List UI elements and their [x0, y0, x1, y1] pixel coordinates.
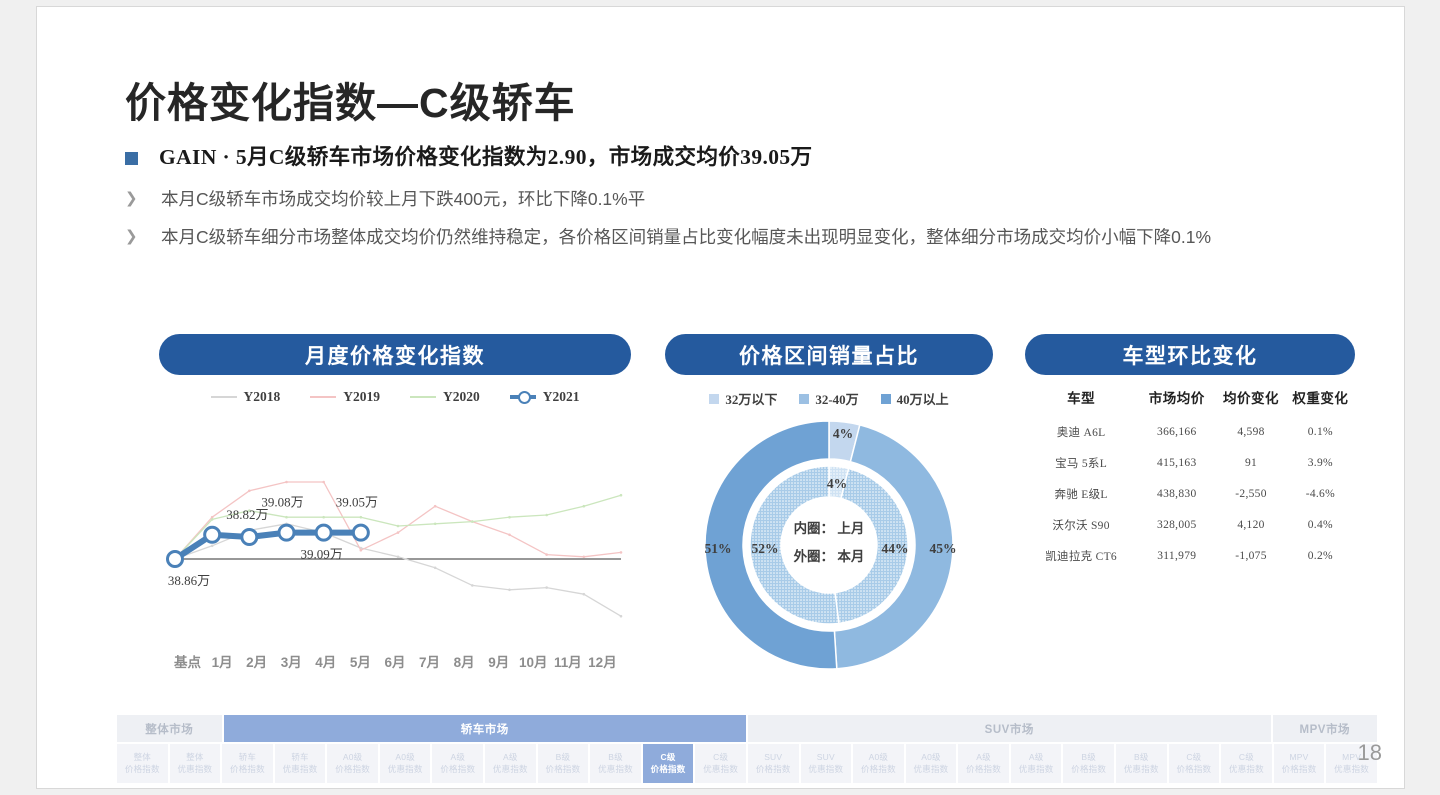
x-tick-label: 12月 [586, 651, 619, 671]
legend-swatch-under32 [709, 394, 719, 404]
x-tick-label: 7月 [413, 651, 446, 671]
cell-weight-change: 0.4% [1286, 509, 1355, 540]
x-tick-label: 6月 [378, 651, 411, 671]
cell-price-change: 4,120 [1216, 509, 1285, 540]
arrow-bullet-icon: ❯ [125, 189, 139, 207]
line-point [508, 534, 511, 537]
nav-group-整体市场[interactable]: 整体市场 [117, 715, 224, 742]
line-point [471, 520, 474, 523]
panel-title-line-chart: 月度价格变化指数 [159, 334, 631, 375]
line-point [397, 531, 400, 534]
nav-tab-line1: A0级 [395, 752, 415, 763]
nav-tab-line2: 价格指数 [230, 764, 265, 775]
nav-tab-line2: 优惠指数 [1124, 764, 1159, 775]
line-marker-y2021 [279, 525, 294, 540]
line-point [620, 615, 623, 618]
bullet-sub-text: 本月C级轿车市场成交均价较上月下跌400元，环比下降0.1%平 [161, 186, 645, 213]
table-row: 宝马 5系L415,163913.9% [1025, 447, 1355, 478]
legend-item-under32: 32万以下 [709, 389, 777, 408]
line-marker-y2021 [242, 530, 257, 545]
nav-tab-line2: 优惠指数 [598, 764, 633, 775]
line-point [322, 516, 325, 519]
nav-tab-line2: 优惠指数 [703, 764, 738, 775]
nav-tab-line1: B级 [556, 752, 571, 763]
nav-tab-21[interactable]: C级优惠指数 [1221, 744, 1274, 783]
nav-group-label: 轿车市场 [461, 721, 509, 737]
x-tick-label: 3月 [275, 651, 308, 671]
table-header-weight-chg: 权重变化 [1286, 379, 1355, 416]
nav-tab-line2: 价格指数 [756, 764, 791, 775]
table-header-model: 车型 [1025, 379, 1137, 416]
page-title: 价格变化指数—C级轿车 [125, 69, 576, 129]
nav-tab-line2: 价格指数 [125, 764, 160, 775]
cell-avg-price: 328,005 [1137, 509, 1216, 540]
donut-center-note-outer: 外圈： 本月 [794, 548, 865, 564]
line-point [434, 567, 437, 570]
legend-label: Y2021 [543, 389, 580, 405]
legend-item-y2020: Y2020 [410, 389, 480, 405]
nav-tab-line1: B级 [608, 752, 623, 763]
table-row: 沃尔沃 S90328,0054,1200.4% [1025, 509, 1355, 540]
nav-tab-11[interactable]: C级优惠指数 [695, 744, 748, 783]
nav-tab-line2: 优惠指数 [1229, 764, 1264, 775]
bullet-sub-2: ❯ 本月C级轿车细分市场整体成交均价仍然维持稳定，各价格区间销量占比变化幅度未出… [125, 224, 1365, 251]
legend-swatch-over40 [881, 394, 891, 404]
line-point [248, 490, 251, 493]
nav-tab-1[interactable]: 整体优惠指数 [170, 744, 223, 783]
donut-slice-label: 45% [930, 541, 957, 556]
nav-tab-13[interactable]: SUV优惠指数 [801, 744, 854, 783]
legend-label: 32-40万 [815, 389, 858, 408]
cell-price-change: -2,550 [1216, 478, 1285, 509]
cell-avg-price: 366,166 [1137, 416, 1216, 447]
x-tick-label: 8月 [448, 651, 481, 671]
nav-tab-7[interactable]: A级优惠指数 [485, 744, 538, 783]
legend-label: 40万以上 [897, 389, 949, 408]
cell-avg-price: 311,979 [1137, 540, 1216, 571]
nav-tab-2[interactable]: 轿车价格指数 [222, 744, 275, 783]
donut-center-note-inner: 内圈： 上月 [794, 520, 865, 536]
line-point [434, 523, 437, 526]
x-tick-label: 9月 [482, 651, 515, 671]
model-change-table: 车型 市场均价 均价变化 权重变化 奥迪 A6L366,1664,5980.1%… [1025, 379, 1355, 571]
cell-model: 奔驰 E级L [1025, 478, 1137, 509]
bullet-list: GAIN · 5月C级轿车市场价格变化指数为2.90，市场成交均价39.05万 … [125, 144, 1365, 262]
nav-tab-line1: SUV [764, 752, 782, 763]
nav-tab-line1: A级 [976, 752, 991, 763]
nav-tab-line2: 优惠指数 [493, 764, 528, 775]
nav-tab-line2: 价格指数 [1282, 764, 1317, 775]
line-point [471, 584, 474, 587]
donut-chart: 32万以下 32-40万 40万以上 [665, 379, 993, 679]
legend-item-y2018: Y2018 [211, 389, 281, 405]
nav-tab-line2: 价格指数 [1176, 764, 1211, 775]
square-bullet-icon [125, 152, 138, 165]
nav-tab-line2: 优惠指数 [388, 764, 423, 775]
line-point [583, 593, 586, 596]
legend-swatch-32to40 [799, 394, 809, 404]
nav-tab-5[interactable]: A0级优惠指数 [380, 744, 433, 783]
nav-tab-9[interactable]: B级优惠指数 [590, 744, 643, 783]
cell-price-change: -1,075 [1216, 540, 1285, 571]
nav-tab-line2: 优惠指数 [177, 764, 212, 775]
line-point [397, 525, 400, 528]
cell-weight-change: 0.2% [1286, 540, 1355, 571]
nav-tab-line2: 价格指数 [651, 764, 686, 775]
cell-weight-change: -4.6% [1286, 478, 1355, 509]
nav-group-label: 整体市场 [145, 721, 193, 737]
line-data-label: 39.08万 [261, 495, 303, 510]
nav-group-MPV市场[interactable]: MPV市场 [1273, 715, 1380, 742]
donut-slice-label: 52% [752, 541, 779, 556]
legend-swatch-y2021 [510, 395, 536, 399]
nav-tab-line1: A级 [503, 752, 518, 763]
line-data-label: 39.09万 [301, 547, 343, 562]
table-row: 奥迪 A6L366,1664,5980.1% [1025, 416, 1355, 447]
nav-tab-line2: 优惠指数 [914, 764, 949, 775]
nav-tab-line2: 价格指数 [1071, 764, 1106, 775]
nav-tab-line1: SUV [817, 752, 835, 763]
bullet-main: GAIN · 5月C级轿车市场价格变化指数为2.90，市场成交均价39.05万 [125, 144, 1365, 172]
nav-tab-line2: 价格指数 [440, 764, 475, 775]
line-point [508, 589, 511, 592]
legend-item-y2019: Y2019 [310, 389, 380, 405]
donut-slice-label: 44% [882, 541, 909, 556]
legend-label: Y2020 [443, 389, 480, 405]
table-header-row: 车型 市场均价 均价变化 权重变化 [1025, 379, 1355, 416]
nav-tab-line2: 优惠指数 [808, 764, 843, 775]
donut-slice-label: 51% [705, 541, 732, 556]
nav-group-label: MPV市场 [1300, 721, 1350, 737]
cell-model: 奥迪 A6L [1025, 416, 1137, 447]
line-chart-x-axis: 基点1月2月3月4月5月6月7月8月9月10月11月12月 [159, 651, 631, 671]
line-point [583, 556, 586, 559]
donut-chart-plot: 4%45%51%4%44%52% 内圈： 上月 外圈： 本月 [665, 416, 993, 674]
nav-tab-0[interactable]: 整体价格指数 [117, 744, 170, 783]
nav-tab-line1: C级 [1239, 752, 1254, 763]
cell-weight-change: 3.9% [1286, 447, 1355, 478]
line-point [545, 514, 548, 517]
table-row: 奔驰 E级L438,830-2,550-4.6% [1025, 478, 1355, 509]
line-point [620, 551, 623, 554]
nav-group-row: 整体市场轿车市场SUV市场MPV市场 [117, 715, 1379, 742]
bullet-main-text: GAIN · 5月C级轿车市场价格变化指数为2.90，市场成交均价39.05万 [159, 144, 812, 172]
nav-tab-6[interactable]: A级价格指数 [432, 744, 485, 783]
cell-price-change: 4,598 [1216, 416, 1285, 447]
nav-tab-line1: 轿车 [239, 752, 256, 763]
bullet-sub-text: 本月C级轿车细分市场整体成交均价仍然维持稳定，各价格区间销量占比变化幅度未出现明… [161, 224, 1211, 251]
cell-avg-price: 415,163 [1137, 447, 1216, 478]
nav-tab-19[interactable]: B级优惠指数 [1116, 744, 1169, 783]
nav-tab-16[interactable]: A级价格指数 [958, 744, 1011, 783]
table-row: 凯迪拉克 CT6311,979-1,0750.2% [1025, 540, 1355, 571]
nav-tab-line1: C级 [661, 752, 676, 763]
x-tick-label: 1月 [206, 651, 239, 671]
line-point [211, 545, 214, 548]
legend-swatch-y2018 [211, 396, 237, 398]
line-chart-plot: 38.86万38.82万39.08万39.09万39.05万 [159, 411, 631, 641]
nav-tab-3[interactable]: 轿车优惠指数 [275, 744, 328, 783]
line-point [545, 586, 548, 589]
page-number: 18 [1358, 740, 1382, 766]
nav-tab-20[interactable]: C级价格指数 [1169, 744, 1222, 783]
legend-label: 32万以下 [725, 389, 777, 408]
line-point [434, 505, 437, 508]
cell-weight-change: 0.1% [1286, 416, 1355, 447]
legend-swatch-y2020 [410, 396, 436, 398]
x-tick-label: 4月 [309, 651, 342, 671]
line-point [620, 494, 623, 497]
nav-tab-line1: A级 [1029, 752, 1044, 763]
line-point [397, 556, 400, 559]
cell-price-change: 91 [1216, 447, 1285, 478]
line-point [211, 518, 214, 521]
legend-item-y2021: Y2021 [510, 389, 580, 405]
nav-tab-14[interactable]: A0级价格指数 [853, 744, 906, 783]
arrow-bullet-icon: ❯ [125, 227, 139, 245]
nav-tab-line1: A0级 [921, 752, 941, 763]
x-tick-label: 基点 [171, 651, 204, 671]
nav-tab-line2: 价格指数 [335, 764, 370, 775]
nav-tab-line1: B级 [1134, 752, 1149, 763]
nav-tab-4[interactable]: A0级价格指数 [327, 744, 380, 783]
nav-tab-line1: C级 [713, 752, 728, 763]
line-point [508, 516, 511, 519]
line-marker-y2021 [316, 525, 331, 540]
nav-tab-line1: 整体 [134, 752, 151, 763]
nav-tab-line1: A0级 [343, 752, 363, 763]
line-point [322, 481, 325, 484]
donut-slice-label: 4% [827, 476, 847, 491]
legend-item-over40: 40万以上 [881, 389, 949, 408]
line-chart: Y2018 Y2019 Y2020 Y2021 38.86万38.82万39.0… [159, 379, 631, 689]
cell-avg-price: 438,830 [1137, 478, 1216, 509]
nav-tab-17[interactable]: A级优惠指数 [1011, 744, 1064, 783]
nav-tab-line2: 价格指数 [966, 764, 1001, 775]
line-point [360, 516, 363, 519]
nav-group-SUV市场[interactable]: SUV市场 [748, 715, 1273, 742]
panel-title-donut-chart: 价格区间销量占比 [665, 334, 993, 375]
table-header-avg-price: 市场均价 [1137, 379, 1216, 416]
nav-tab-line1: 整体 [186, 752, 203, 763]
bottom-navigation: 整体市场轿车市场SUV市场MPV市场 整体价格指数整体优惠指数轿车价格指数轿车优… [117, 715, 1379, 783]
donut-slice-label: 4% [833, 426, 853, 441]
legend-item-32to40: 32-40万 [799, 389, 858, 408]
nav-tab-8[interactable]: B级价格指数 [538, 744, 591, 783]
table-header-price-chg: 均价变化 [1216, 379, 1285, 416]
line-data-label: 39.05万 [336, 495, 378, 510]
line-point [360, 549, 363, 552]
cell-model: 沃尔沃 S90 [1025, 509, 1137, 540]
x-tick-label: 10月 [517, 651, 550, 671]
legend-label: Y2018 [244, 389, 281, 405]
nav-tab-12[interactable]: SUV价格指数 [748, 744, 801, 783]
bullet-sub-1: ❯ 本月C级轿车市场成交均价较上月下跌400元，环比下降0.1%平 [125, 186, 1365, 213]
line-point [583, 505, 586, 508]
cell-model: 凯迪拉克 CT6 [1025, 540, 1137, 571]
nav-tab-line1: A0级 [869, 752, 889, 763]
x-tick-label: 2月 [240, 651, 273, 671]
nav-tab-line1: 轿车 [291, 752, 308, 763]
slide-canvas: 价格变化指数—C级轿车 GAIN · 5月C级轿车市场价格变化指数为2.90，市… [36, 6, 1405, 789]
nav-tab-18[interactable]: B级价格指数 [1063, 744, 1116, 783]
nav-tab-row: 整体价格指数整体优惠指数轿车价格指数轿车优惠指数A0级价格指数A0级优惠指数A级… [117, 744, 1379, 783]
line-data-label: 38.86万 [168, 573, 210, 588]
nav-tab-line1: B级 [1081, 752, 1096, 763]
line-chart-legend: Y2018 Y2019 Y2020 Y2021 [159, 389, 631, 405]
nav-tab-line1: A级 [450, 752, 465, 763]
x-tick-label: 5月 [344, 651, 377, 671]
nav-tab-line2: 优惠指数 [283, 764, 318, 775]
nav-tab-line2: 价格指数 [861, 764, 896, 775]
nav-tab-line1: C级 [1186, 752, 1201, 763]
line-point [285, 481, 288, 484]
nav-group-轿车市场[interactable]: 轿车市场 [224, 715, 749, 742]
nav-tab-line1: MPV [1289, 752, 1308, 763]
line-marker-y2021 [353, 525, 368, 540]
legend-label: Y2019 [343, 389, 380, 405]
line-marker-y2021 [168, 552, 183, 567]
nav-tab-line2: 价格指数 [546, 764, 581, 775]
line-point [545, 553, 548, 556]
nav-tab-15[interactable]: A0级优惠指数 [906, 744, 959, 783]
line-point [285, 516, 288, 519]
cell-model: 宝马 5系L [1025, 447, 1137, 478]
nav-group-label: SUV市场 [985, 721, 1034, 737]
panel-title-table: 车型环比变化 [1025, 334, 1355, 375]
nav-tab-10[interactable]: C级价格指数 [643, 744, 696, 783]
nav-tab-line2: 优惠指数 [1019, 764, 1054, 775]
line-marker-y2021 [205, 527, 220, 542]
legend-swatch-y2019 [310, 396, 336, 398]
donut-chart-legend: 32万以下 32-40万 40万以上 [665, 389, 993, 408]
nav-tab-22[interactable]: MPV价格指数 [1274, 744, 1327, 783]
x-tick-label: 11月 [551, 651, 584, 671]
